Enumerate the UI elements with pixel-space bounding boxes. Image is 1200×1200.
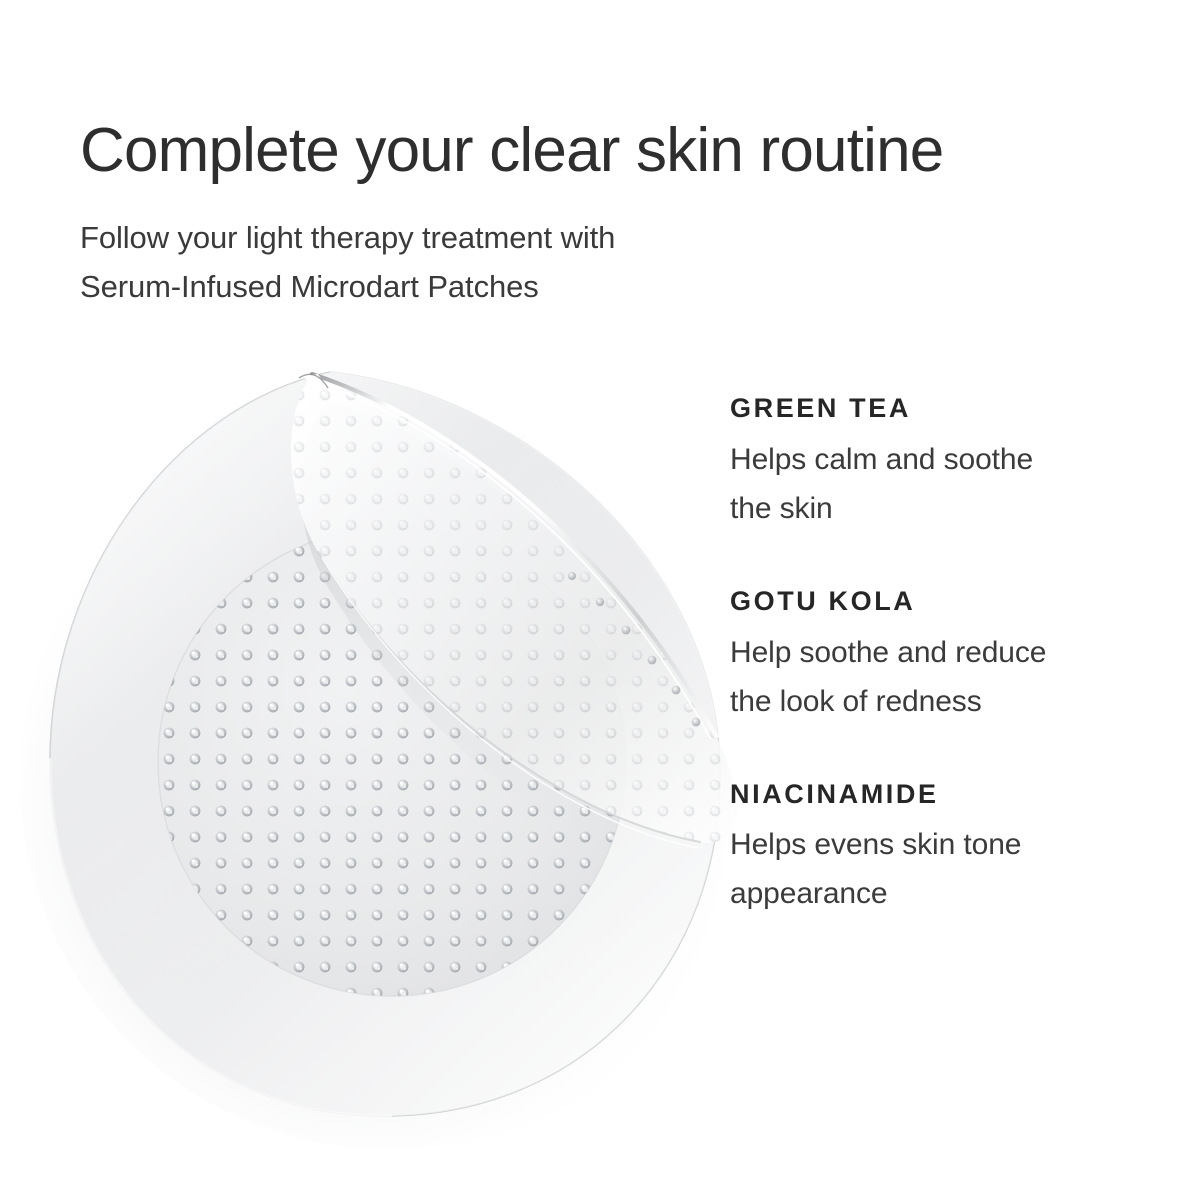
ingredient-desc-line: the look of redness [730, 677, 1130, 726]
ingredient-niacinamide: NIACINAMIDE Helps evens skin tone appear… [730, 778, 1130, 919]
ingredient-gotu-kola: GOTU KOLA Help soothe and reduce the loo… [730, 585, 1130, 726]
ingredient-desc-line: appearance [730, 869, 1130, 918]
product-feature-panel: Complete your clear skin routine Follow … [0, 0, 1200, 1200]
ingredient-desc-line: the skin [730, 484, 1130, 533]
product-image [0, 330, 820, 1150]
header-block: Complete your clear skin routine Follow … [80, 118, 1100, 311]
ingredient-list: GREEN TEA Helps calm and soothe the skin… [730, 392, 1130, 918]
page-subtitle-line-1: Follow your light therapy treatment with [80, 213, 1100, 262]
microdart-patch-illustration [0, 330, 820, 1150]
ingredient-name-niacinamide: NIACINAMIDE [730, 778, 1130, 812]
ingredient-desc-line: Help soothe and reduce [730, 628, 1130, 677]
ingredient-desc-line: Helps evens skin tone [730, 820, 1130, 869]
page-subtitle: Follow your light therapy treatment with… [80, 213, 1100, 311]
ingredient-desc-niacinamide: Helps evens skin tone appearance [730, 820, 1130, 918]
ingredient-name-gotu-kola: GOTU KOLA [730, 585, 1130, 619]
page-title: Complete your clear skin routine [80, 118, 1100, 183]
page-subtitle-line-2: Serum-Infused Microdart Patches [80, 262, 1100, 311]
ingredient-desc-gotu-kola: Help soothe and reduce the look of redne… [730, 628, 1130, 726]
ingredient-name-green-tea: GREEN TEA [730, 392, 1130, 426]
ingredient-desc-green-tea: Helps calm and soothe the skin [730, 435, 1130, 533]
ingredient-desc-line: Helps calm and soothe [730, 435, 1130, 484]
ingredient-green-tea: GREEN TEA Helps calm and soothe the skin [730, 392, 1130, 533]
